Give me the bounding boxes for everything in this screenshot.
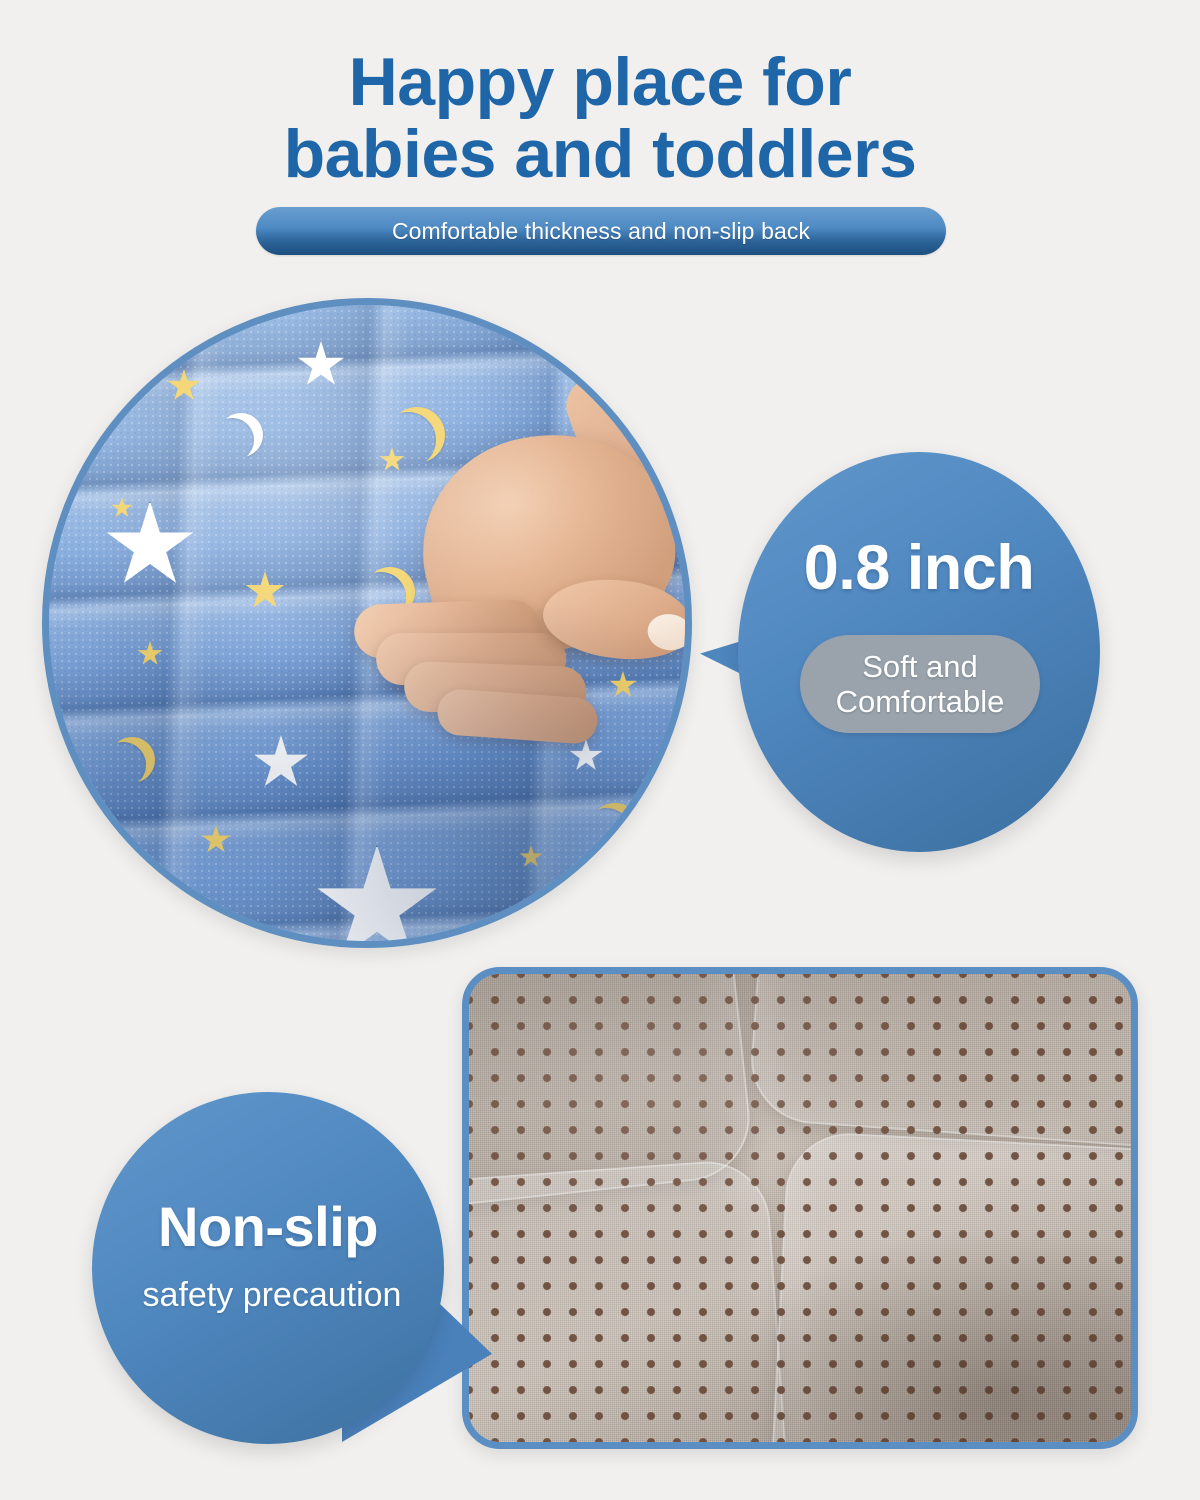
callout-bubble <box>92 1092 444 1444</box>
badge-line-1: Soft and <box>862 649 977 684</box>
nonslip-title: Non-slip <box>92 1194 444 1259</box>
product-photo-nonslip <box>462 967 1138 1449</box>
headline-line-1: Happy place for <box>0 46 1200 118</box>
quilt-shading-overlay <box>49 305 685 941</box>
badge-line-2: Comfortable <box>836 684 1005 719</box>
subtitle-banner: Comfortable thickness and non-slip back <box>256 207 946 255</box>
nonslip-subtitle: safety precaution <box>86 1276 458 1315</box>
product-photo-thickness <box>42 298 692 948</box>
infographic-page: Happy place for babies and toddlers Comf… <box>0 0 1200 1500</box>
headline-line-2: babies and toddlers <box>0 118 1200 190</box>
nonslip-shading-overlay <box>469 974 1131 1442</box>
page-title: Happy place for babies and toddlers <box>0 46 1200 190</box>
subtitle-text: Comfortable thickness and non-slip back <box>392 218 810 245</box>
thickness-value: 0.8 inch <box>738 532 1100 604</box>
nonslip-callout: Non-slip safety precaution <box>92 1092 492 1444</box>
thickness-callout: 0.8 inch Soft and Comfortable <box>700 452 1100 852</box>
photo-circle-frame <box>42 298 692 948</box>
soft-comfortable-badge: Soft and Comfortable <box>800 635 1040 733</box>
